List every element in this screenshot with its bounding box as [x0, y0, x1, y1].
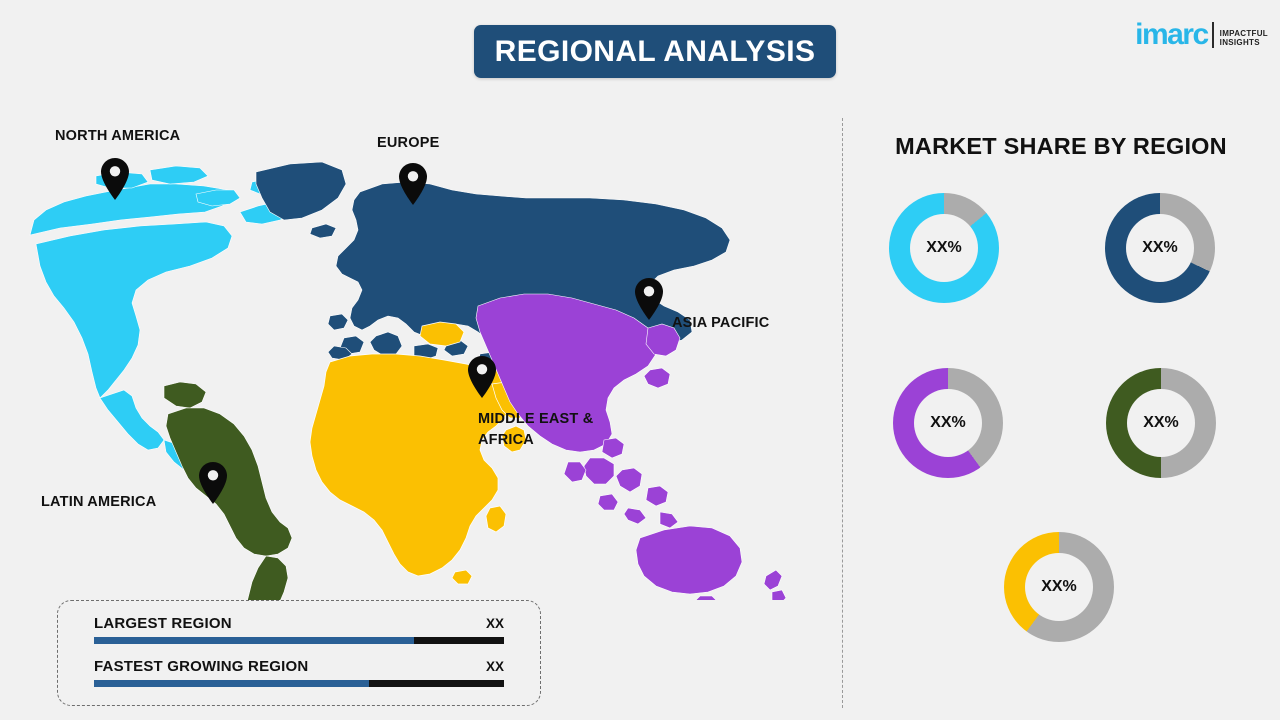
- map-pin-latin-america-icon: [196, 461, 230, 505]
- donut-hole-asia-pacific: XX%: [914, 389, 982, 457]
- panel-divider: [842, 118, 843, 708]
- legend-bar-fill-largest-region: [94, 637, 414, 644]
- map-label-latin-america: LATIN AMERICA: [41, 492, 156, 513]
- map-label-middle-east-africa: MIDDLE EAST & AFRICA: [478, 409, 648, 451]
- legend-bar-largest-region: [94, 637, 504, 644]
- donut-chart-latin-america: XX%: [1106, 368, 1216, 478]
- market-share-title: MARKET SHARE BY REGION: [842, 133, 1280, 160]
- donut-value-middle-east-africa: XX%: [1041, 578, 1077, 596]
- map-label-north-america: NORTH AMERICA: [55, 126, 180, 147]
- imarc-logo: imarc IMPACTFUL INSIGHTS: [1135, 20, 1268, 50]
- donut-value-asia-pacific: XX%: [930, 414, 966, 432]
- donut-hole-europe: XX%: [1126, 214, 1194, 282]
- logo-tagline-line2: INSIGHTS: [1220, 38, 1268, 47]
- donut-chart-asia-pacific: XX%: [893, 368, 1003, 478]
- donut-hole-middle-east-africa: XX%: [1025, 553, 1093, 621]
- donut-value-north-america: XX%: [926, 239, 962, 257]
- map-pin-north-america-icon: [98, 157, 132, 201]
- infographic-canvas: REGIONAL ANALYSIS imarc IMPACTFUL INSIGH…: [0, 0, 1280, 720]
- map-label-europe: EUROPE: [377, 133, 439, 154]
- page-title-banner: REGIONAL ANALYSIS: [474, 25, 836, 78]
- world-map: [0, 140, 810, 600]
- donut-chart-middle-east-africa: XX%: [1004, 532, 1114, 642]
- legend-bar-fastest-growing-region: [94, 680, 504, 687]
- map-pin-asia-pacific-icon: [632, 277, 666, 321]
- page-title: REGIONAL ANALYSIS: [495, 35, 816, 69]
- donut-hole-latin-america: XX%: [1127, 389, 1195, 457]
- legend-row-fastest-growing-region: FASTEST GROWING REGION XX: [94, 658, 504, 687]
- legend-value-largest-region: XX: [486, 616, 504, 631]
- legend-label-largest-region: LARGEST REGION: [94, 615, 232, 632]
- map-pin-middle-east-africa-icon: [465, 355, 499, 399]
- donut-value-latin-america: XX%: [1143, 414, 1179, 432]
- legend-label-fastest-growing-region: FASTEST GROWING REGION: [94, 658, 308, 675]
- logo-tagline-line1: IMPACTFUL: [1220, 29, 1268, 38]
- donut-value-europe: XX%: [1142, 239, 1178, 257]
- map-label-asia-pacific: ASIA PACIFIC: [672, 313, 769, 334]
- map-pin-europe-icon: [396, 162, 430, 206]
- donut-chart-north-america: XX%: [889, 193, 999, 303]
- legend-value-fastest-growing-region: XX: [486, 659, 504, 674]
- legend-row-largest-region: LARGEST REGION XX: [94, 615, 504, 644]
- logo-tagline: IMPACTFUL INSIGHTS: [1220, 29, 1268, 47]
- donut-hole-north-america: XX%: [910, 214, 978, 282]
- region-summary-box: LARGEST REGION XX FASTEST GROWING REGION…: [57, 600, 541, 706]
- map-region-north-america: [30, 166, 300, 484]
- legend-bar-fill-fastest-growing-region: [94, 680, 369, 687]
- donut-chart-europe: XX%: [1105, 193, 1215, 303]
- logo-divider-rule: [1212, 22, 1214, 48]
- logo-wordmark: imarc: [1135, 20, 1208, 50]
